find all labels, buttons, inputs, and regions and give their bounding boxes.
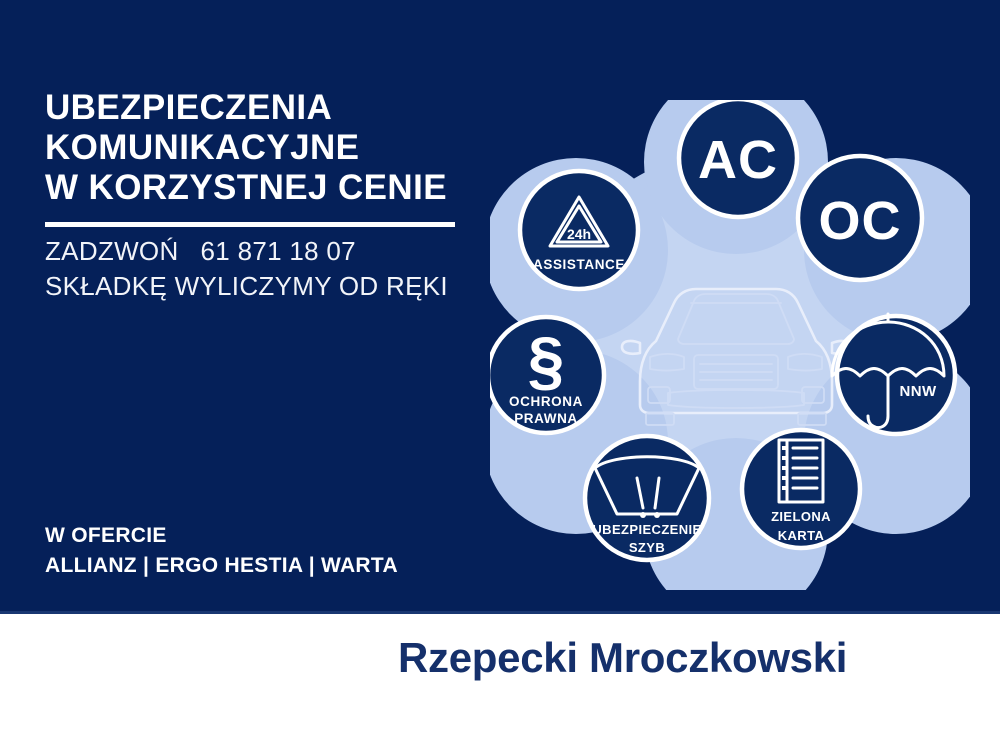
- headline-underline-rule: [45, 222, 455, 227]
- wheel-node-oc-label: OC: [819, 191, 902, 251]
- offer-title: W OFERCIE: [45, 521, 525, 551]
- offer-insurers: ALLIANZ | ERGO HESTIA | WARTA: [45, 551, 525, 581]
- phone-number[interactable]: 61 871 18 07: [201, 236, 356, 266]
- wheel-node-ochrona-prawna[interactable]: § OCHRONA PRAWNA: [490, 317, 604, 433]
- page-title: UBEZPIECZENIA KOMUNIKACYJNE W KORZYSTNEJ…: [45, 88, 485, 208]
- wheel-node-zielona-label-2: KARTA: [778, 528, 825, 543]
- wheel-node-assistance[interactable]: 24h ASSISTANCE: [520, 171, 638, 289]
- brand-name: Rzepecki Mroczkowski: [398, 634, 847, 682]
- assistance-badge-24h: 24h: [567, 226, 591, 242]
- wheel-node-szyb-label-2: SZYB: [629, 540, 665, 555]
- wheel-node-szyb-label-1: UBEZPIECZENIE: [592, 522, 701, 537]
- wheel-node-assistance-label: ASSISTANCE: [533, 257, 625, 272]
- offer-block: W OFERCIE ALLIANZ | ERGO HESTIA | WARTA: [45, 521, 525, 581]
- call-to-action-row: ZADZWOŃ61 871 18 07: [45, 234, 505, 269]
- headline-line-2: KOMUNIKACYJNE: [45, 128, 485, 168]
- paragraph-section-icon: §: [528, 323, 565, 397]
- insurance-coverage-wheel: .nodec{ fill:#0a2a63; stroke:#ffffff; st…: [490, 100, 970, 590]
- wheel-node-ac-label: AC: [698, 130, 778, 190]
- wheel-node-nnw-label: NNW: [899, 383, 936, 400]
- wheel-node-oc[interactable]: OC: [798, 156, 922, 280]
- wheel-node-zielona-label-1: ZIELONA: [771, 509, 831, 524]
- wheel-node-ochrona-label-1: OCHRONA: [509, 394, 583, 409]
- call-label: ZADZWOŃ: [45, 236, 179, 266]
- headline-line-1: UBEZPIECZENIA: [45, 88, 485, 128]
- wheel-node-ochrona-label-2: PRAWNA: [514, 411, 578, 426]
- wheel-node-ubezpieczenie-szyb[interactable]: UBEZPIECZENIE SZYB: [585, 436, 709, 560]
- insurance-ad-banner: UBEZPIECZENIA KOMUNIKACYJNE W KORZYSTNEJ…: [0, 0, 1000, 750]
- contact-subheading: ZADZWOŃ61 871 18 07 SKŁADKĘ WYLICZYMY OD…: [45, 234, 505, 304]
- headline-line-3: W KORZYSTNEJ CENIE: [45, 168, 485, 208]
- quote-promise-line: SKŁADKĘ WYLICZYMY OD RĘKI: [45, 269, 505, 304]
- wheel-node-ac[interactable]: AC: [679, 100, 797, 217]
- watermark-text: autokomis: [14, 711, 133, 737]
- wheel-node-zielona-karta[interactable]: ZIELONA KARTA: [742, 430, 860, 548]
- footer-divider-line: [0, 611, 1000, 614]
